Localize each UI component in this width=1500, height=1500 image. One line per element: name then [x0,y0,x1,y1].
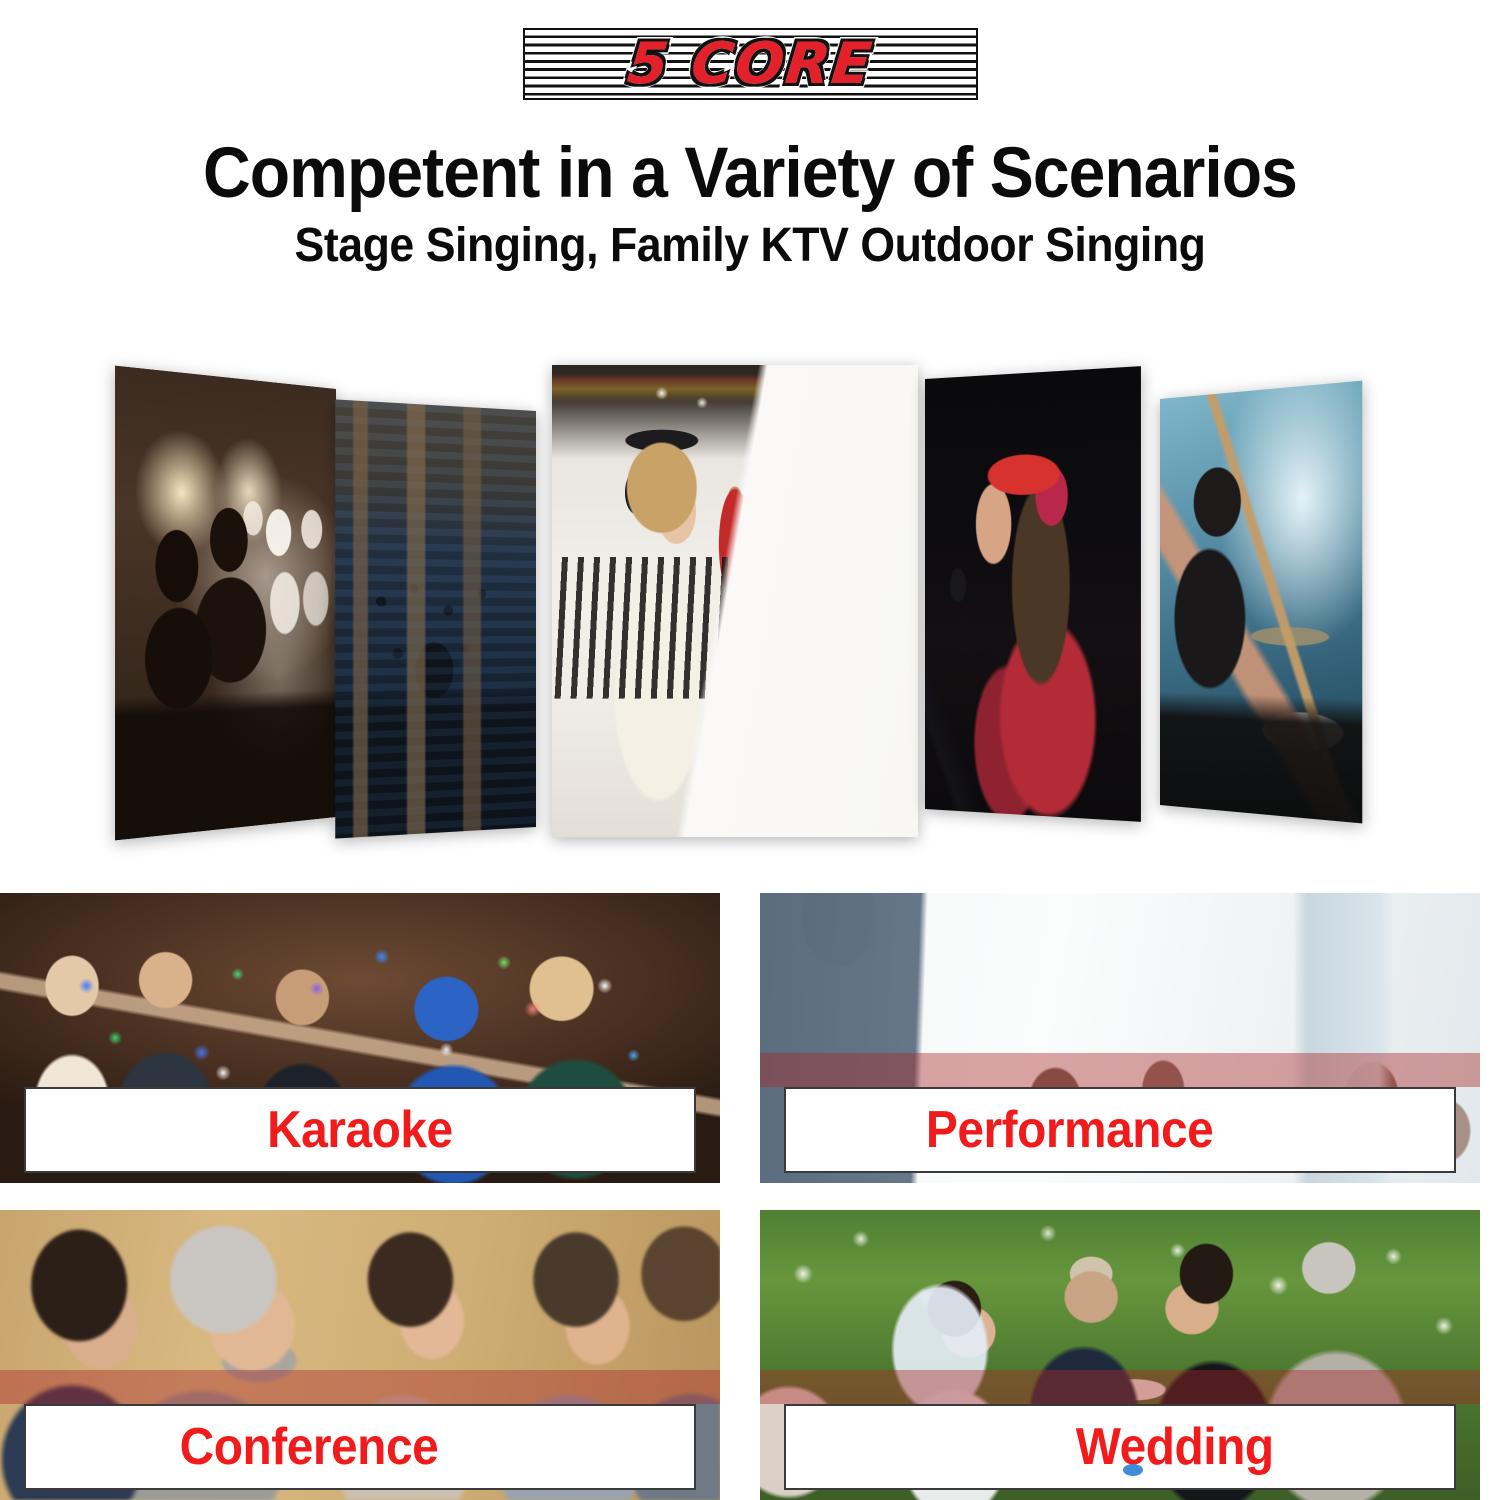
ballet-stage-image [115,366,336,841]
conference-caption-label: Conference [180,1417,540,1477]
page-subtitle: Stage Singing, Family KTV Outdoor Singin… [53,222,1448,270]
performance-caption-label: Performance [926,1100,1315,1160]
wedding-caption-label: Wedding [966,1417,1274,1477]
logo-wordmark-text: 5 CORE [624,31,876,97]
female-singer-image [925,366,1141,822]
brand-logo-area: 5 CORE [0,28,1500,100]
conference-red-overlay [0,1370,720,1404]
girl-piano-photo [552,365,918,837]
performance-caption-bar: Performance [784,1087,1456,1173]
five-core-logo: 5 CORE [523,28,978,100]
scene-card-karaoke: Karaoke [0,893,720,1183]
conference-caption-bar: Conference [24,1404,696,1490]
wedding-red-overlay [760,1370,1480,1404]
female-singer-photo [925,366,1141,822]
ballet-stage-photo [115,366,336,841]
page-title: Competent in a Variety of Scenarios [53,138,1448,209]
scene-card-wedding: Wedding [760,1210,1480,1500]
concert-audience-photo [335,399,536,838]
scene-card-conference: Conference [0,1210,720,1500]
scenario-grid: Karaoke Performance Conference Wedding [0,893,1500,1500]
concert-audience-image [335,399,536,838]
girl-piano-image [552,365,918,837]
karaoke-caption-label: Karaoke [267,1100,453,1160]
wedding-caption-bar: Wedding [784,1404,1456,1490]
drummer-photo [1160,381,1362,824]
drummer-image [1160,381,1362,824]
performance-red-overlay [760,1053,1480,1087]
scenario-photo-fan [0,355,1500,855]
karaoke-caption-bar: Karaoke [24,1087,696,1173]
scene-card-performance: Performance [760,893,1480,1183]
logo-wordmark: 5 CORE [519,28,982,100]
